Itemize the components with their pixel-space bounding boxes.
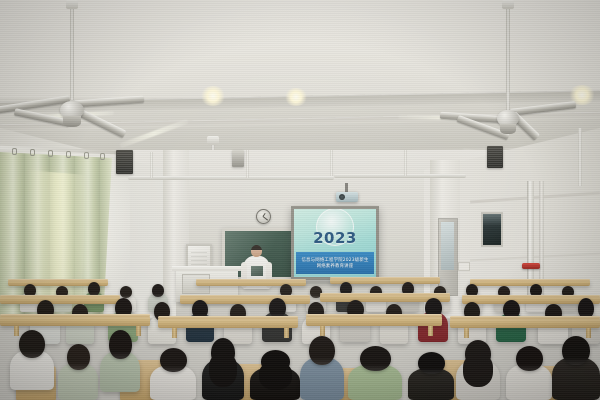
desk-front-edge <box>180 295 310 297</box>
audience-member <box>552 336 600 400</box>
desk-front-edge <box>320 293 450 295</box>
audience-head <box>88 282 100 296</box>
conduit-drop <box>246 150 249 178</box>
window-sheen <box>483 214 501 226</box>
curtain-ring <box>100 153 105 160</box>
audience-long-hair <box>463 354 493 387</box>
audience-member <box>10 330 54 390</box>
curtain-ring <box>66 151 71 158</box>
desk-leg <box>320 326 325 336</box>
ceiling-conduit <box>128 176 334 180</box>
fan-rod-cap <box>66 0 78 9</box>
clock-hand-minute <box>263 216 268 220</box>
slide-surface: 2023 信息与网络工程学院2023级新生 网络素养教育讲座 <box>294 209 376 277</box>
lecture-desk <box>0 296 120 304</box>
projector-lens-icon <box>339 194 345 200</box>
wall-speaker-icon <box>116 150 133 174</box>
audience-member <box>202 338 244 400</box>
audience-head <box>269 298 286 318</box>
curtain-ring <box>48 150 53 157</box>
audience-head <box>309 336 335 365</box>
audience-long-hair <box>209 353 237 387</box>
fan-motor-housing <box>63 116 81 127</box>
presenter-shirt-graphic <box>251 266 263 276</box>
fan-drop-rod <box>506 0 510 112</box>
audience-head <box>418 352 445 374</box>
audience-head <box>19 330 45 358</box>
speaker-grill <box>117 151 132 173</box>
wall-speaker-icon <box>232 150 244 167</box>
desk-front-edge <box>306 314 442 317</box>
desk-leg <box>428 326 433 336</box>
desk-leg <box>464 328 469 338</box>
conduit-drop <box>330 150 333 176</box>
slide-title-banner: 信息与网络工程学院2023级新生 网络素养教育讲座 <box>296 252 374 274</box>
framed-panel-texture <box>191 249 207 265</box>
audience-head <box>120 286 132 298</box>
presenter-head <box>251 245 262 257</box>
fan-rod-cap <box>502 0 514 9</box>
audience-member <box>456 340 500 400</box>
ceiling-conduit <box>334 174 466 178</box>
ceiling-bulb-glow <box>284 88 308 106</box>
audience-head <box>160 348 187 372</box>
desk-front-edge <box>0 295 120 297</box>
audience-member <box>348 346 402 400</box>
curtain-ring <box>30 149 35 156</box>
desk-leg <box>172 328 177 338</box>
fan-rod-cap <box>207 136 219 145</box>
lecture-desk <box>450 318 600 328</box>
desk-front-edge <box>0 314 150 317</box>
podium-top-surface <box>172 266 242 271</box>
conduit-drop <box>578 128 582 186</box>
speaker-grill <box>488 147 502 167</box>
audience-long-hair <box>259 362 292 390</box>
wall-sign <box>458 262 470 271</box>
curtain-ring <box>12 148 17 155</box>
desk-front-edge <box>330 277 440 279</box>
curtain-ring <box>84 152 89 159</box>
door-glass-pane <box>441 222 454 270</box>
projection-screen: 2023 信息与网络工程学院2023级新生 网络素养教育讲座 <box>291 206 379 280</box>
slide-title-line-1: 信息与网络工程学院2023级新生 <box>301 258 368 263</box>
fire-valve-red <box>522 263 540 269</box>
desk-leg <box>284 328 289 338</box>
audience-head <box>562 336 590 365</box>
audience-head <box>152 284 164 297</box>
slide-title-line-2: 网络素养教育讲座 <box>317 264 354 269</box>
audience-head <box>67 344 90 370</box>
desk-front-edge <box>450 316 600 319</box>
desk-front-edge <box>158 316 298 319</box>
lecture-desk <box>158 318 298 328</box>
desk-front-edge <box>196 279 306 281</box>
audience-member <box>250 350 300 400</box>
desk-front-edge <box>462 295 600 297</box>
fan-motor-housing <box>500 124 516 134</box>
audience-head <box>516 346 543 371</box>
lecture-desk <box>306 316 442 326</box>
audience-member <box>506 346 552 400</box>
audience-member <box>408 352 454 400</box>
slide-year-text: 2023 <box>294 229 376 247</box>
audience-head <box>109 330 132 359</box>
wall-speaker-icon <box>487 146 503 168</box>
lecture-desk <box>0 316 150 326</box>
conduit-drop <box>150 152 153 178</box>
audience-member <box>300 336 344 400</box>
audience-head <box>360 346 391 371</box>
ceiling-bulb-glow <box>200 86 226 106</box>
ceiling-upper-panel <box>0 0 600 98</box>
audience-member <box>150 348 196 400</box>
desk-front-edge <box>470 279 590 281</box>
conduit-drop <box>404 150 407 176</box>
fan-drop-rod <box>70 0 74 100</box>
wall-clock-icon <box>256 209 271 224</box>
desk-front-edge <box>8 279 108 281</box>
audience-member <box>100 330 140 392</box>
classroom-photo: 2023 信息与网络工程学院2023级新生 网络素养教育讲座 <box>0 0 600 400</box>
audience-member <box>58 344 98 400</box>
interior-dark-window <box>481 212 503 247</box>
